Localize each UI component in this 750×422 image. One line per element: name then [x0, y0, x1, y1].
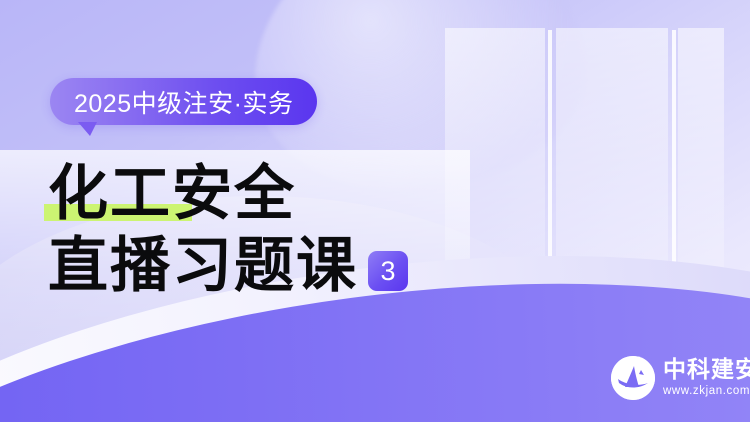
course-category-tag-pointer	[78, 122, 97, 136]
episode-number-badge: 3	[368, 251, 408, 291]
brand-name-cn: 中科建安	[663, 358, 750, 381]
banner-title-line-1: 化工 安全	[48, 155, 468, 227]
title-line1-rest-text: 安全	[172, 161, 296, 227]
banner-title-block: 化工 安全 直播习题课 3	[48, 155, 468, 299]
zkjan-circular-logo-icon	[611, 356, 655, 400]
title-line2-text: 直播习题课	[48, 233, 358, 299]
banner-title-line-2: 直播习题课 3	[48, 227, 468, 299]
course-category-tag: 2025中级注安·实务	[50, 78, 317, 125]
course-category-tag-label: 2025中级注安·实务	[74, 84, 293, 120]
brand-logo[interactable]: 中科建安 www.zkjan.com	[611, 356, 750, 400]
brand-logo-text: 中科建安 www.zkjan.com	[663, 358, 750, 398]
course-promo-banner: 2025中级注安·实务 化工 安全 直播习题课 3 中科建安	[0, 0, 750, 422]
brand-website-url: www.zkjan.com	[663, 386, 750, 398]
title-line1-highlighted-text: 化工	[48, 159, 172, 229]
highlighted-title-segment: 化工	[48, 161, 172, 227]
